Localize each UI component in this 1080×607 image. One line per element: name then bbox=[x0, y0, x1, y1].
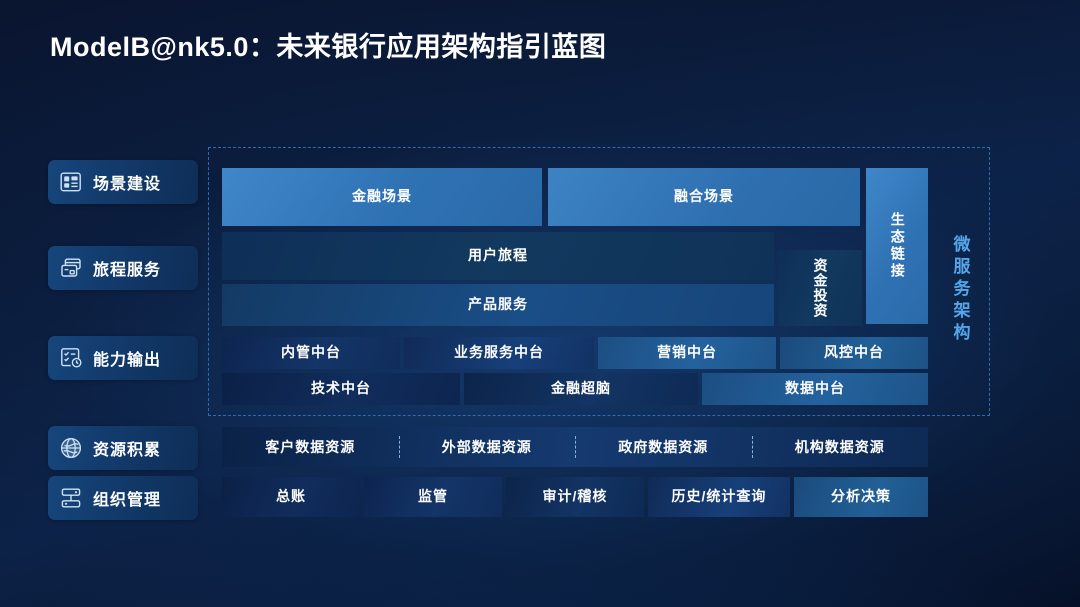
tile-business-service-platform[interactable]: 业务服务中台 bbox=[404, 337, 594, 369]
tile-label: 审计/稽核 bbox=[543, 488, 608, 506]
tile-label: 生态链接 bbox=[888, 212, 906, 280]
tile-label: 分析决策 bbox=[831, 488, 891, 506]
tile-technology-platform[interactable]: 技术中台 bbox=[222, 373, 460, 405]
tile-user-journey[interactable]: 用户旅程 bbox=[222, 232, 774, 280]
tile-history-statistics-query[interactable]: 历史/统计查询 bbox=[648, 477, 790, 517]
resource-label: 政府数据资源 bbox=[618, 437, 708, 457]
resource-cell-external[interactable]: 外部数据资源 bbox=[399, 427, 576, 467]
tile-label: 技术中台 bbox=[311, 380, 371, 398]
tile-financial-super-brain[interactable]: 金融超脑 bbox=[464, 373, 698, 405]
tile-label: 金融场景 bbox=[352, 188, 412, 206]
tile-label: 数据中台 bbox=[785, 380, 845, 398]
tile-label: 业务服务中台 bbox=[454, 344, 544, 362]
tile-label: 风控中台 bbox=[824, 344, 884, 362]
sidebar-item-label: 场景建设 bbox=[93, 170, 161, 194]
credit-card-icon bbox=[58, 255, 84, 281]
resource-cell-government[interactable]: 政府数据资源 bbox=[575, 427, 752, 467]
layout-dashboard-icon bbox=[58, 169, 84, 195]
tile-regulation[interactable]: 监管 bbox=[364, 477, 502, 517]
tile-label: 产品服务 bbox=[468, 296, 528, 314]
tile-integrated-scenario[interactable]: 融合场景 bbox=[548, 168, 860, 226]
tile-internal-mgmt-platform[interactable]: 内管中台 bbox=[222, 337, 400, 369]
sidebar-item-organization[interactable]: 组织管理 bbox=[48, 476, 198, 520]
tile-marketing-platform[interactable]: 营销中台 bbox=[598, 337, 776, 369]
resource-row: 客户数据资源 外部数据资源 政府数据资源 机构数据资源 bbox=[222, 427, 928, 467]
tile-data-platform[interactable]: 数据中台 bbox=[702, 373, 928, 405]
resource-cell-customer[interactable]: 客户数据资源 bbox=[222, 427, 399, 467]
resource-cell-institution[interactable]: 机构数据资源 bbox=[752, 427, 929, 467]
resource-label: 外部数据资源 bbox=[442, 437, 532, 457]
sidebar-item-journey[interactable]: 旅程服务 bbox=[48, 246, 198, 290]
resource-label: 客户数据资源 bbox=[265, 437, 355, 457]
sidebar-item-label: 组织管理 bbox=[93, 486, 161, 510]
sidebar-item-label: 资源积累 bbox=[93, 436, 161, 460]
tile-label: 用户旅程 bbox=[468, 247, 528, 265]
microservice-architecture-label: 微服务架构 bbox=[938, 210, 982, 370]
slide-canvas: ModelB@nk5.0：未来银行应用架构指引蓝图 场景建设 bbox=[0, 0, 1080, 607]
globe-icon bbox=[58, 435, 84, 461]
tile-label: 总账 bbox=[276, 488, 306, 506]
tile-risk-control-platform[interactable]: 风控中台 bbox=[780, 337, 928, 369]
tile-product-service[interactable]: 产品服务 bbox=[222, 284, 774, 326]
tile-label: 金融超脑 bbox=[551, 380, 611, 398]
tile-label: 监管 bbox=[418, 488, 448, 506]
tile-audit-inspection[interactable]: 审计/稽核 bbox=[506, 477, 644, 517]
page-title: ModelB@nk5.0：未来银行应用架构指引蓝图 bbox=[50, 25, 606, 64]
checklist-clock-icon bbox=[58, 345, 84, 371]
tile-financial-scenario[interactable]: 金融场景 bbox=[222, 168, 542, 226]
sidebar-item-label: 能力输出 bbox=[93, 346, 161, 370]
tile-ecosystem-link[interactable]: 生态链接 bbox=[866, 168, 928, 324]
tile-analysis-decision[interactable]: 分析决策 bbox=[794, 477, 928, 517]
tile-label: 资金投资 bbox=[811, 258, 830, 318]
org-chart-icon bbox=[58, 485, 84, 511]
tile-label: 融合场景 bbox=[674, 188, 734, 206]
sidebar-item-scenario[interactable]: 场景建设 bbox=[48, 160, 198, 204]
tile-general-ledger[interactable]: 总账 bbox=[222, 477, 360, 517]
tile-label: 历史/统计查询 bbox=[672, 488, 767, 506]
sidebar-item-label: 旅程服务 bbox=[93, 256, 161, 280]
tile-label: 内管中台 bbox=[281, 344, 341, 362]
sidebar-item-resource[interactable]: 资源积累 bbox=[48, 426, 198, 470]
tile-label: 营销中台 bbox=[657, 344, 717, 362]
microservice-text: 微服务架构 bbox=[948, 235, 973, 345]
resource-label: 机构数据资源 bbox=[795, 437, 885, 457]
tile-capital-investment[interactable]: 资金投资 bbox=[778, 250, 862, 326]
sidebar-item-capability[interactable]: 能力输出 bbox=[48, 336, 198, 380]
